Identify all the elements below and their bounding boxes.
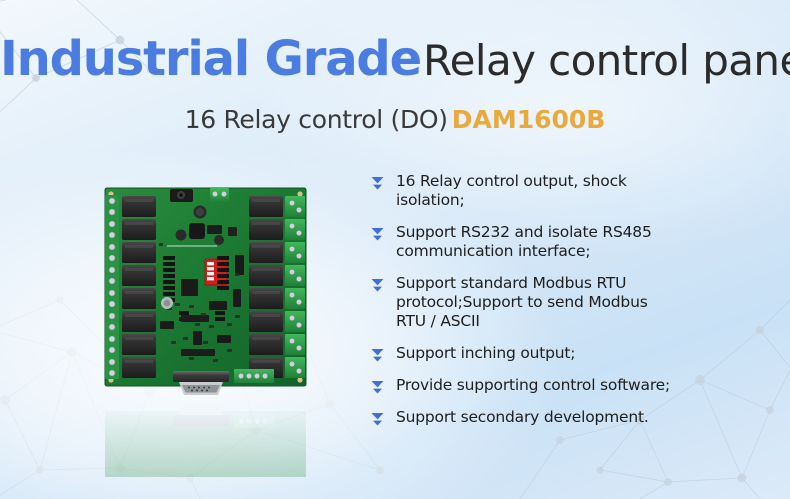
silkscreen-label [167, 245, 217, 247]
product-banner: Industrial GradeRelay control panel 16 R… [0, 0, 790, 499]
double-chevron-down-icon [370, 379, 385, 395]
subtitle-model-number: DAM1600B [452, 105, 606, 134]
db9-serial-connector [173, 371, 229, 395]
left-terminal-blocks [105, 195, 119, 379]
relay-control-board-photo [97, 183, 314, 398]
feature-item: Support RS232 and isolate RS485 communic… [368, 223, 768, 261]
feature-item: Support standard Modbus RTU protocol;Sup… [368, 274, 768, 331]
feature-item: Support secondary development. [368, 408, 768, 427]
title-highlight: Industrial Grade [0, 31, 421, 87]
feature-item: Provide supporting control software; [368, 376, 768, 395]
feature-item: Support inching output; [368, 344, 768, 363]
power-terminal [210, 188, 229, 202]
double-chevron-down-icon [370, 277, 385, 293]
feature-text: Provide supporting control software; [396, 376, 768, 395]
product-photo-reflection [97, 399, 314, 477]
feature-item: 16 Relay control output, shock isolation… [368, 172, 768, 210]
feature-text: 16 Relay control output, shock isolation… [396, 172, 768, 210]
feature-text: Support inching output; [396, 344, 768, 363]
title-remainder: Relay control panel [423, 36, 790, 85]
double-chevron-down-icon [370, 226, 385, 242]
feature-text: Support standard Modbus RTU protocol;Sup… [396, 274, 768, 331]
banner-title: Industrial GradeRelay control panel [0, 31, 790, 87]
feature-text: Support RS232 and isolate RS485 communic… [396, 223, 768, 261]
bottom-terminal-block [234, 369, 274, 383]
double-chevron-down-icon [370, 175, 385, 191]
double-chevron-down-icon [370, 411, 385, 427]
feature-text: Support secondary development. [396, 408, 768, 427]
banner-subtitle: 16 Relay control (DO)DAM1600B [0, 105, 790, 134]
dc-power-jack [170, 189, 193, 202]
feature-list: 16 Relay control output, shock isolation… [368, 172, 768, 427]
subtitle-description: 16 Relay control (DO) [185, 105, 448, 134]
double-chevron-down-icon [370, 347, 385, 363]
